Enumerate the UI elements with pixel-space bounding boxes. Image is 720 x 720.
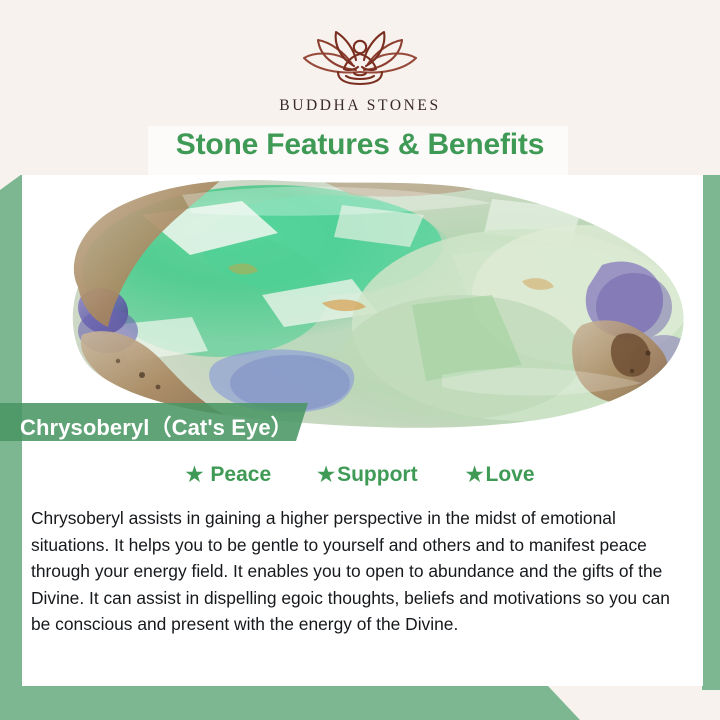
brand-logo: BUDDHA STONES	[0, 26, 720, 115]
benefit-label-love: Love	[486, 463, 535, 487]
benefit-label-peace: Peace	[210, 463, 271, 487]
frame-bottom-bar	[0, 686, 580, 720]
stone-photo-art	[22, 175, 703, 437]
stone-info-card: BUDDHA STONES Stone Features & Benefits	[0, 0, 720, 720]
stone-name: Chrysoberyl（Cat's Eye）	[20, 410, 293, 442]
benefit-label-support: Support	[337, 463, 417, 487]
benefit-item-peace: ★ Peace	[185, 463, 271, 487]
star-icon: ★	[466, 465, 484, 485]
benefit-item-love: ★ Love	[466, 463, 535, 487]
benefits-row: ★ Peace ★ Support ★ Love	[0, 463, 720, 487]
page-title: Stone Features & Benefits	[0, 128, 720, 162]
lotus-meditation-icon	[276, 26, 444, 90]
brand-name: BUDDHA STONES	[279, 97, 440, 115]
frame-left-bar	[0, 174, 22, 720]
stone-photo	[22, 175, 703, 437]
star-icon: ★	[185, 465, 203, 485]
star-icon: ★	[317, 465, 335, 485]
stone-description: Chrysoberyl assists in gaining a higher …	[31, 505, 691, 638]
benefit-item-support: ★ Support	[317, 463, 417, 487]
